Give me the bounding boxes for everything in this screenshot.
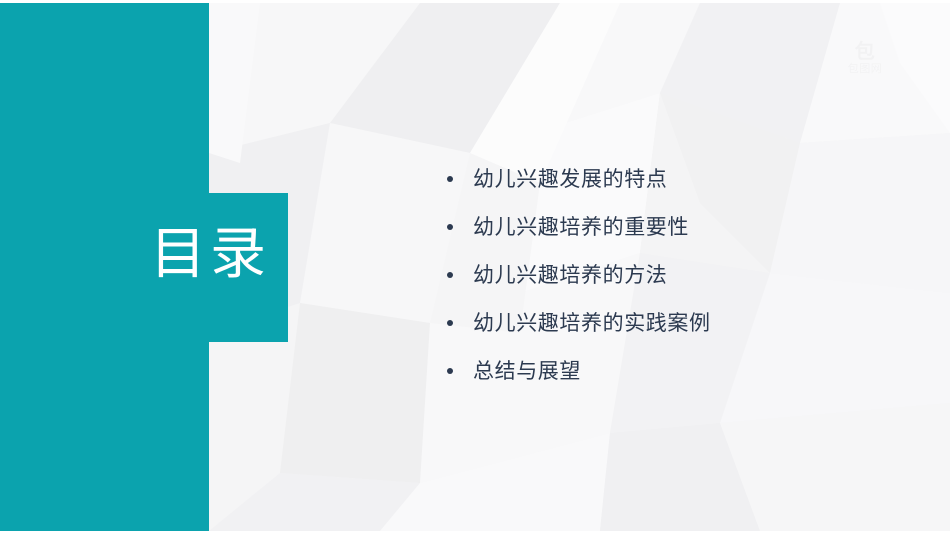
bullet-dot-icon xyxy=(447,368,453,374)
list-item[interactable]: 幼儿兴趣培养的重要性 xyxy=(443,203,883,251)
bullet-dot-icon xyxy=(447,320,453,326)
list-item[interactable]: 幼儿兴趣培养的方法 xyxy=(443,251,883,299)
slide-edge-top xyxy=(0,0,950,3)
list-item-label: 幼儿兴趣培养的重要性 xyxy=(473,215,689,239)
list-item-label: 总结与展望 xyxy=(473,359,581,383)
watermark-label: 包图网 xyxy=(848,62,883,75)
presentation-slide: 包 包图网 目录 幼儿兴趣发展的特点 幼儿兴趣培养的重要性 幼儿兴趣培养的方法 … xyxy=(0,0,950,535)
page-title: 目录 xyxy=(150,220,290,290)
list-item-label: 幼儿兴趣培养的方法 xyxy=(473,263,667,287)
list-item-label: 幼儿兴趣发展的特点 xyxy=(473,167,667,191)
list-item-label: 幼儿兴趣培养的实践案例 xyxy=(473,311,711,335)
bullet-dot-icon xyxy=(447,224,453,230)
watermark-mark: 包 xyxy=(828,40,902,62)
slide-edge-bottom xyxy=(0,531,950,535)
bullet-dot-icon xyxy=(447,176,453,182)
list-item[interactable]: 幼儿兴趣发展的特点 xyxy=(443,155,883,203)
watermark: 包 包图网 xyxy=(828,40,902,88)
list-item[interactable]: 总结与展望 xyxy=(443,347,883,395)
agenda-list: 幼儿兴趣发展的特点 幼儿兴趣培养的重要性 幼儿兴趣培养的方法 幼儿兴趣培养的实践… xyxy=(443,155,883,395)
list-item[interactable]: 幼儿兴趣培养的实践案例 xyxy=(443,299,883,347)
bullet-dot-icon xyxy=(447,272,453,278)
